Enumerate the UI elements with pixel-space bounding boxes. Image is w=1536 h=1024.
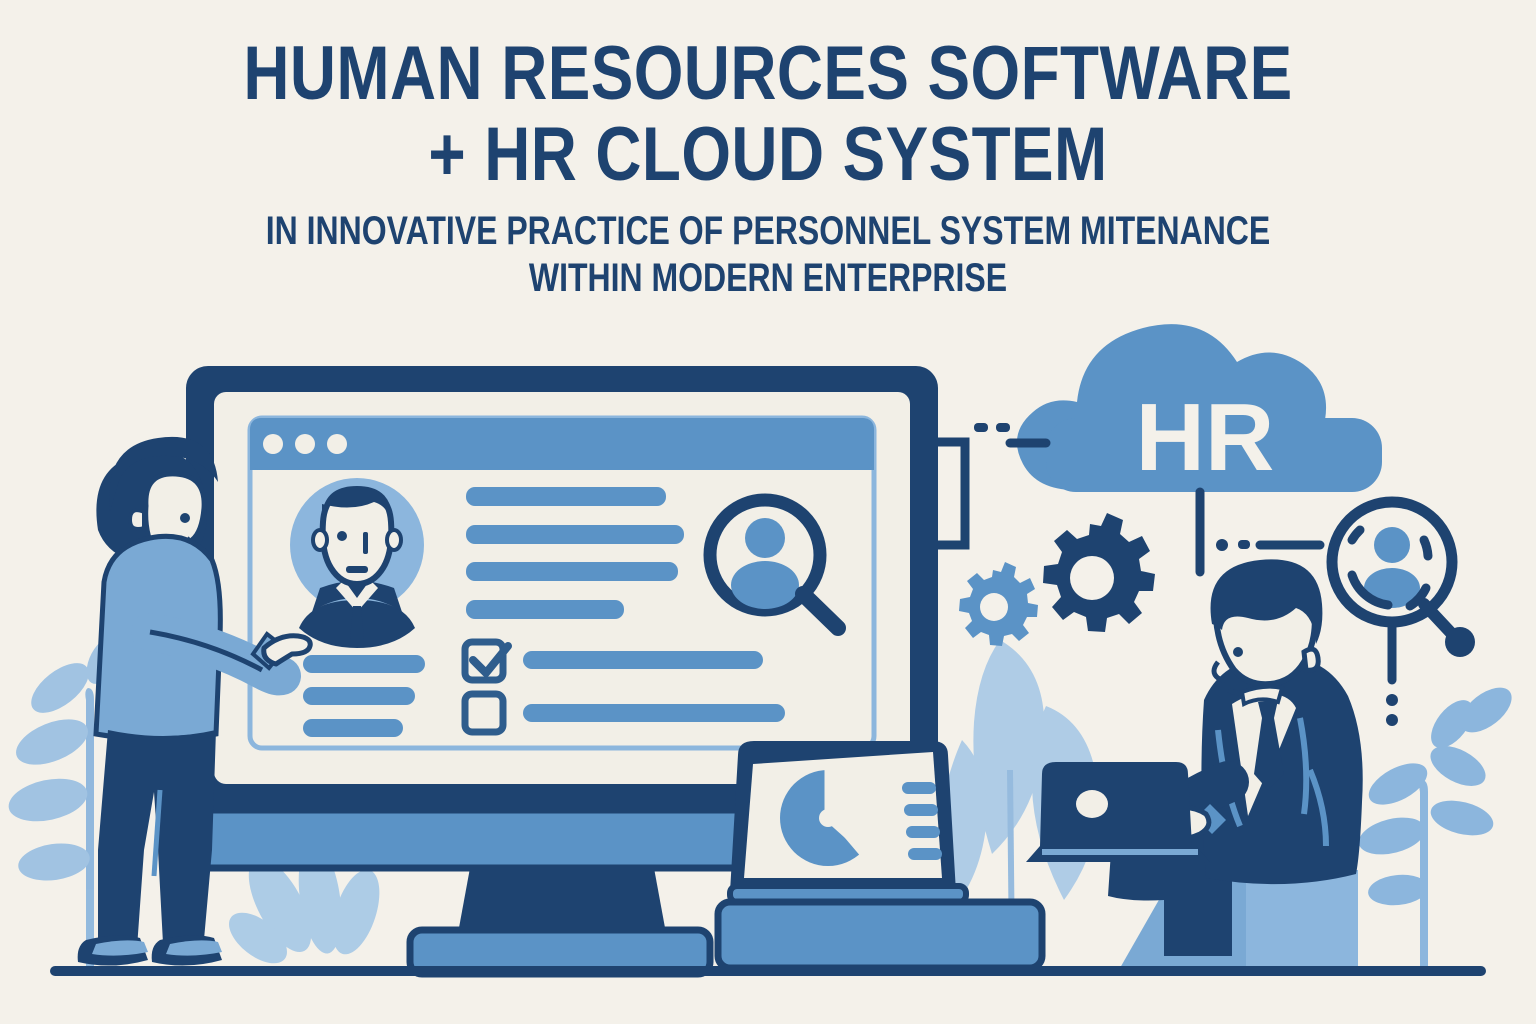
connector-dots-right — [1216, 539, 1250, 551]
user-search-circle-icon — [1332, 502, 1475, 726]
illustration-canvas: HUMAN RESOURCES SOFTWARE + HR CLOUD SYST… — [0, 0, 1536, 1024]
browser-window-dots — [263, 434, 347, 454]
plant-leaves-right — [1355, 679, 1520, 972]
cloud-label: HR — [1136, 384, 1275, 491]
connector-dots — [974, 423, 1010, 432]
pie-chart — [780, 769, 885, 866]
scene-svg: HR — [0, 0, 1536, 1024]
ground-line — [50, 966, 1486, 976]
employee-avatar — [290, 478, 424, 648]
gear-icon-large — [1043, 513, 1155, 632]
gear-icon-small — [959, 562, 1038, 646]
man-with-laptop — [1026, 559, 1363, 968]
